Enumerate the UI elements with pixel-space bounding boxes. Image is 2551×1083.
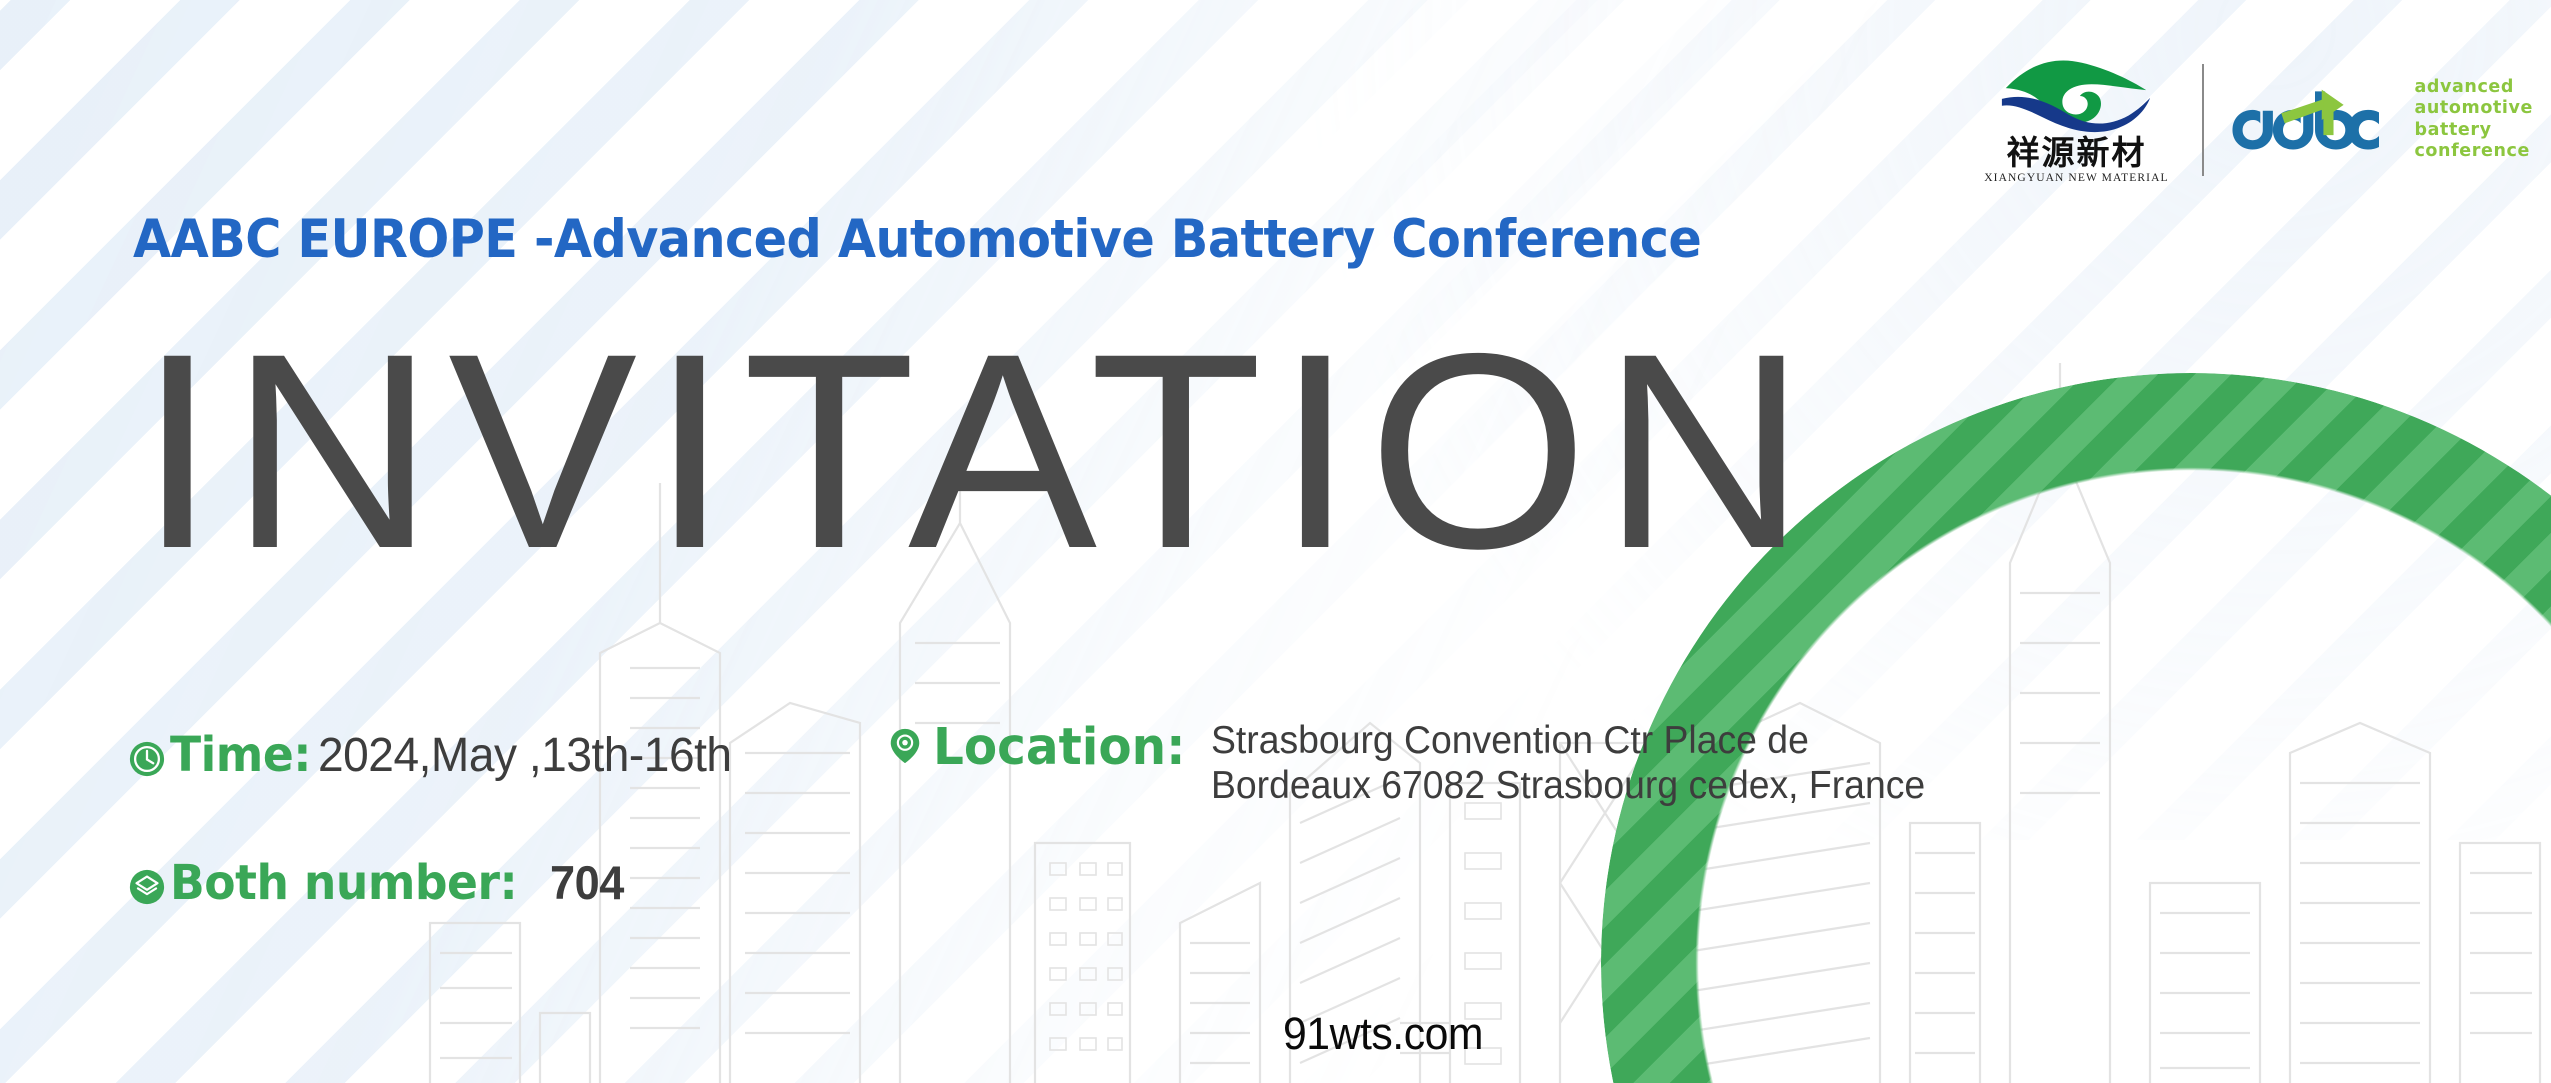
time-label: Time: xyxy=(170,727,311,783)
xiangyuan-english-name: XIANGYUAN NEW MATERIAL xyxy=(1984,172,2168,184)
aabc-tagline: advanced automotive battery conference xyxy=(2414,77,2533,162)
aabc-tagline-line-1: advanced xyxy=(2414,77,2533,98)
xiangyuan-chinese-name: 祥源新材 xyxy=(2006,136,2146,169)
xiangyuan-wave-logo-icon xyxy=(1996,55,2156,133)
booth-row: Both number: 704 xyxy=(128,855,626,911)
aabc-tagline-line-3: battery xyxy=(2414,120,2533,141)
invitation-banner: 祥源新材 XIANGYUAN NEW MATERIAL advanced aut… xyxy=(0,0,2551,1083)
site-watermark: 91wts.com xyxy=(1283,1008,1483,1060)
booth-value: 704 xyxy=(550,855,624,910)
time-value: 2024,May ,13th-16th xyxy=(318,728,732,783)
aabc-tagline-line-4: conference xyxy=(2414,141,2533,162)
location-row: Location: Strasbourg Convention Ctr Plac… xyxy=(886,718,1947,809)
location-value: Strasbourg Convention Ctr Place de Borde… xyxy=(1211,718,1925,809)
aabc-tagline-line-2: automotive xyxy=(2414,98,2533,119)
conference-subtitle: AABC EUROPE -Advanced Automotive Battery… xyxy=(133,209,1701,270)
time-row: Time: 2024,May ,13th-16th xyxy=(128,727,749,783)
clock-icon xyxy=(128,740,166,778)
page-title: INVITATION xyxy=(138,312,1820,590)
xiangyuan-logo: 祥源新材 XIANGYUAN NEW MATERIAL xyxy=(1976,55,2176,184)
logo-row: 祥源新材 XIANGYUAN NEW MATERIAL advanced aut… xyxy=(1976,55,2533,184)
aabc-wordmark-logo-icon xyxy=(2230,88,2400,152)
logo-divider xyxy=(2202,64,2204,176)
location-label: Location: xyxy=(933,718,1186,777)
aabc-logo: advanced automotive battery conference xyxy=(2230,77,2533,162)
map-pin-icon xyxy=(886,727,924,765)
layers-icon xyxy=(128,868,166,906)
booth-label: Both number: xyxy=(170,855,517,911)
